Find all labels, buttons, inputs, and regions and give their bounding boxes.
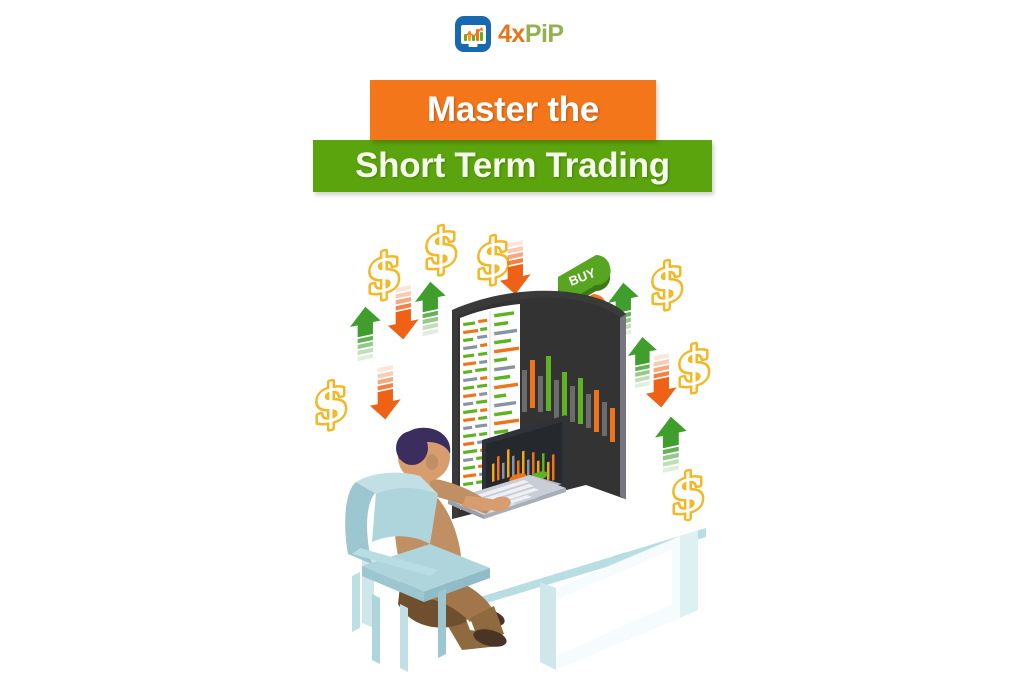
down-arrow-icon (646, 351, 677, 410)
up-arrow-icon (350, 303, 381, 362)
brand-name-part-2: PiP (525, 20, 564, 48)
headline-line-1: Master the (427, 90, 599, 130)
brand-wordmark: 4xPiP (498, 22, 564, 47)
headline-banner-top: Master the (370, 80, 656, 140)
headline-line-2: Short Term Trading (355, 146, 670, 186)
down-arrow-icon (370, 363, 401, 422)
brand-logo: 4xPiP (455, 16, 564, 52)
brand-name-part-1: 4x (498, 20, 525, 48)
up-arrow-icon (628, 334, 657, 390)
dollar-sign-icon (676, 333, 712, 401)
up-arrow-icon (415, 278, 446, 337)
dollar-sign-icon (423, 215, 459, 283)
dollar-sign-icon (313, 370, 349, 438)
trading-illustration: $ $ (0, 210, 1024, 680)
monitor-chart-icon (455, 16, 491, 52)
dollar-sign-icon (649, 250, 685, 318)
poster-canvas: 4xPiP Master the Short Term Trading (0, 0, 1024, 683)
headline-banner-bottom: Short Term Trading (313, 140, 712, 192)
